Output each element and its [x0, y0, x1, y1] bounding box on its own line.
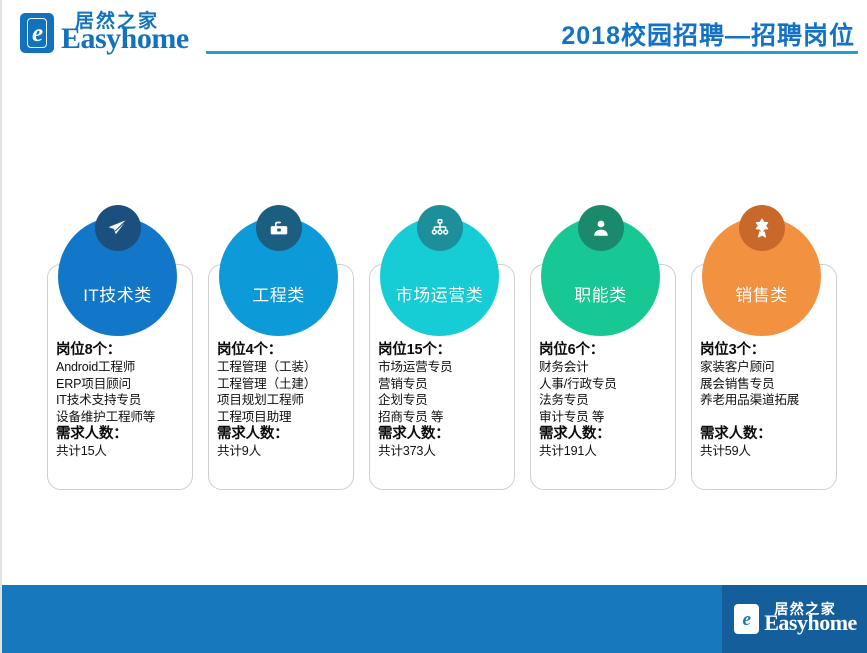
slide: e 居然之家 Easyhome 2018校园招聘—招聘岗位 岗位8个：Andro…	[0, 0, 867, 653]
position-item: 工程管理（工装）	[217, 359, 345, 376]
demand-label: 需求人数：	[539, 425, 667, 443]
position-count-label: 岗位6个：	[539, 341, 667, 359]
demand-label: 需求人数：	[378, 425, 506, 443]
category-name: 销售类	[735, 281, 788, 336]
card-body: 岗位6个：财务会计人事/行政专员法务专员审计专员 等需求人数：共计191人	[530, 341, 676, 460]
demand-label: 需求人数：	[700, 425, 828, 443]
job-category-card[interactable]: 岗位3个：家装客户顾问展会销售专员养老用品渠道拓展需求人数：共计59人销售类	[691, 217, 837, 497]
position-item: 法务专员	[539, 392, 667, 409]
demand-label: 需求人数：	[56, 425, 184, 443]
position-item: 营销专员	[378, 376, 506, 393]
demand-value: 共计15人	[56, 443, 184, 460]
position-item: 企划专员	[378, 392, 506, 409]
category-circle[interactable]: 市场运营类	[380, 217, 499, 336]
position-item: 招商专员 等	[378, 409, 506, 426]
paper-plane-icon	[95, 205, 141, 251]
card-body: 岗位8个：Android工程师ERP项目顾问IT技术支持专员设备维护工程师等需求…	[47, 341, 193, 460]
category-name: 职能类	[574, 281, 627, 336]
footer-logo-glyph: e	[734, 604, 759, 634]
position-item: 市场运营专员	[378, 359, 506, 376]
position-count-label: 岗位8个：	[56, 341, 184, 359]
footer-logo-mark: e	[734, 604, 759, 634]
spacer	[700, 409, 828, 426]
demand-value: 共计191人	[539, 443, 667, 460]
footer-logo-en: Easyhome	[764, 612, 857, 634]
brand-logo-glyph: e	[20, 13, 54, 53]
position-item: 展会销售专员	[700, 376, 828, 393]
position-item: 工程项目助理	[217, 409, 345, 426]
star-badge-icon	[739, 205, 785, 251]
category-circle[interactable]: 工程类	[219, 217, 338, 336]
job-category-card[interactable]: 岗位15个：市场运营专员营销专员企划专员招商专员 等需求人数：共计373人市场运…	[369, 217, 515, 497]
demand-value: 共计59人	[700, 443, 828, 460]
category-name: 工程类	[252, 281, 305, 336]
position-item: 家装客户顾问	[700, 359, 828, 376]
position-item: 财务会计	[539, 359, 667, 376]
footer-logo: e 居然之家 Easyhome	[722, 585, 867, 653]
slide-header: e 居然之家 Easyhome 2018校园招聘—招聘岗位	[2, 0, 867, 78]
job-category-cards: 岗位8个：Android工程师ERP项目顾问IT技术支持专员设备维护工程师等需求…	[47, 217, 837, 497]
position-count-label: 岗位15个：	[378, 341, 506, 359]
slide-footer: e 居然之家 Easyhome	[2, 585, 867, 653]
card-body: 岗位15个：市场运营专员营销专员企划专员招商专员 等需求人数：共计373人	[369, 341, 515, 460]
category-circle[interactable]: 职能类	[541, 217, 660, 336]
category-name: IT技术类	[83, 281, 152, 336]
job-category-card[interactable]: 岗位6个：财务会计人事/行政专员法务专员审计专员 等需求人数：共计191人职能类	[530, 217, 676, 497]
position-item: 审计专员 等	[539, 409, 667, 426]
sitemap-icon	[417, 205, 463, 251]
footer-logo-text: 居然之家 Easyhome	[764, 604, 857, 634]
person-icon	[578, 205, 624, 251]
position-item: 工程管理（土建）	[217, 376, 345, 393]
brand-logo-text: 居然之家 Easyhome	[61, 12, 189, 54]
job-category-card[interactable]: 岗位4个：工程管理（工装）工程管理（土建）项目规划工程师工程项目助理需求人数：共…	[208, 217, 354, 497]
toolbox-icon	[256, 205, 302, 251]
position-item: 养老用品渠道拓展	[700, 392, 828, 409]
category-circle[interactable]: 销售类	[702, 217, 821, 336]
page-title: 2018校园招聘—招聘岗位	[561, 16, 855, 52]
brand-logo-en: Easyhome	[61, 24, 189, 54]
category-name: 市场运营类	[396, 281, 484, 336]
demand-value: 共计373人	[378, 443, 506, 460]
brand-logo-mark: e	[20, 13, 54, 53]
position-item: 项目规划工程师	[217, 392, 345, 409]
demand-value: 共计9人	[217, 443, 345, 460]
position-item: ERP项目顾问	[56, 376, 184, 393]
position-item: Android工程师	[56, 359, 184, 376]
card-body: 岗位3个：家装客户顾问展会销售专员养老用品渠道拓展需求人数：共计59人	[691, 341, 837, 460]
category-circle[interactable]: IT技术类	[58, 217, 177, 336]
position-item: 人事/行政专员	[539, 376, 667, 393]
position-item: 设备维护工程师等	[56, 409, 184, 426]
position-count-label: 岗位4个：	[217, 341, 345, 359]
card-body: 岗位4个：工程管理（工装）工程管理（土建）项目规划工程师工程项目助理需求人数：共…	[208, 341, 354, 460]
header-divider	[206, 51, 858, 54]
brand-logo: e 居然之家 Easyhome	[20, 12, 189, 54]
position-count-label: 岗位3个：	[700, 341, 828, 359]
position-item: IT技术支持专员	[56, 392, 184, 409]
job-category-card[interactable]: 岗位8个：Android工程师ERP项目顾问IT技术支持专员设备维护工程师等需求…	[47, 217, 193, 497]
demand-label: 需求人数：	[217, 425, 345, 443]
